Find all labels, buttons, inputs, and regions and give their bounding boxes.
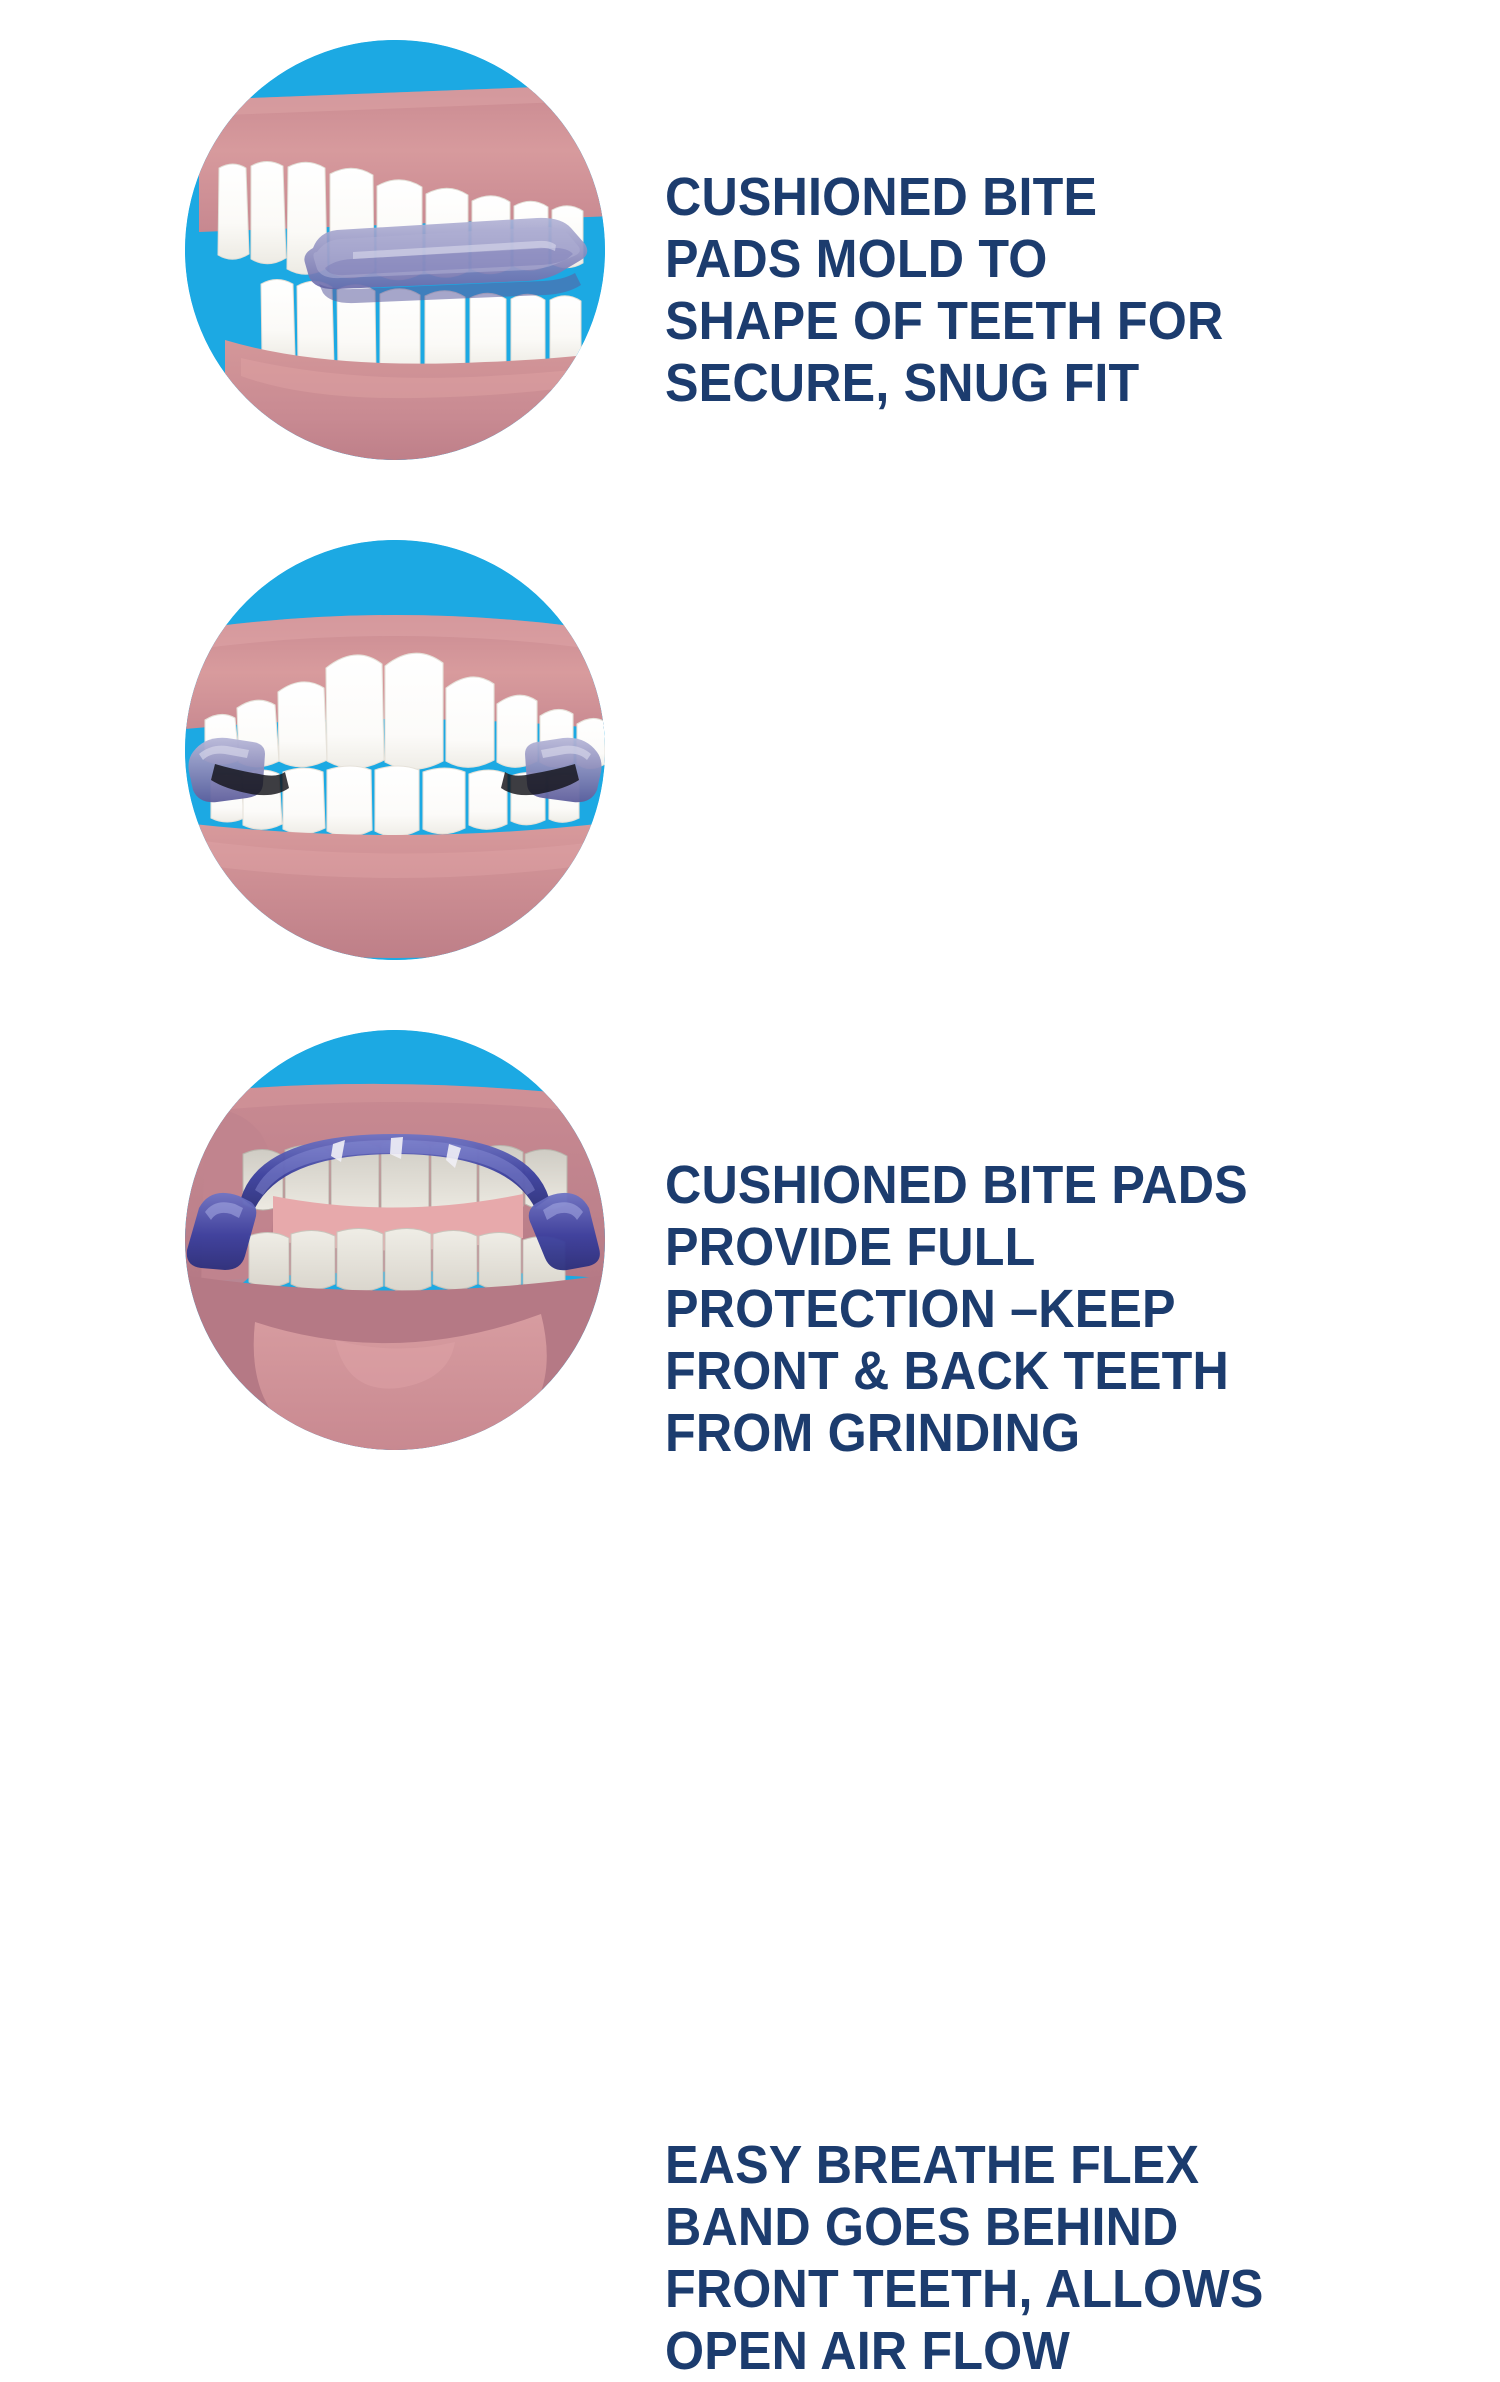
blue-circle-3 <box>185 1030 605 1450</box>
infographic-page: CUSHIONED BITE PADS MOLD TO SHAPE OF TEE… <box>0 0 1500 1500</box>
feature-image-2 <box>185 540 605 960</box>
blue-circle-2 <box>185 540 605 960</box>
feature-text-3: EASY BREATHE FLEX BAND GOES BEHIND FRONT… <box>665 2134 1365 2382</box>
feature-3-line-3: FRONT TEETH, ALLOWS <box>665 2258 1316 2320</box>
feature-3-line-4: OPEN AIR FLOW <box>665 2320 1316 2382</box>
feature-3-line-2: BAND GOES BEHIND <box>665 2196 1316 2258</box>
feature-text-1: CUSHIONED BITE PADS MOLD TO SHAPE OF TEE… <box>665 166 1365 414</box>
feature-image-1 <box>185 40 605 460</box>
feature-1-line-4: SECURE, SNUG FIT <box>665 352 1316 414</box>
feature-3-line-1: EASY BREATHE FLEX <box>665 2134 1316 2196</box>
feature-1-line-1: CUSHIONED BITE <box>665 166 1316 228</box>
feature-image-3 <box>185 1030 605 1450</box>
feature-row-2: CUSHIONED BITE PADS PROVIDE FULL PROTECT… <box>0 540 1500 970</box>
blue-circle-1 <box>185 40 605 460</box>
feature-1-line-2: PADS MOLD TO <box>665 228 1316 290</box>
feature-row-1: CUSHIONED BITE PADS MOLD TO SHAPE OF TEE… <box>0 40 1500 470</box>
feature-row-3: EASY BREATHE FLEX BAND GOES BEHIND FRONT… <box>0 1030 1500 1460</box>
feature-1-line-3: SHAPE OF TEETH FOR <box>665 290 1316 352</box>
